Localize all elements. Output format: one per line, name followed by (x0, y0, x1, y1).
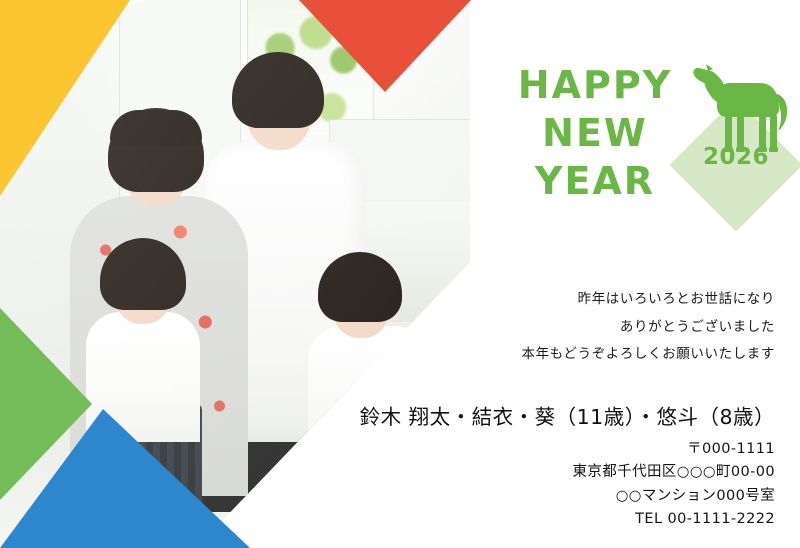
mother-fringe (110, 110, 202, 146)
message-line-2: ありがとうございました (521, 314, 775, 342)
zodiac-badge: 2026 (675, 62, 795, 192)
greeting-line-new: NEW (500, 114, 690, 152)
address-block: 〒000-1111 東京都千代田区○○○町00-00 ○○マンション000号室 … (573, 438, 776, 532)
greeting-line-happy: HAPPY (500, 66, 690, 104)
family-name-line: 鈴木 翔太・結衣・葵（11歳）・悠斗（8歳） (360, 400, 775, 430)
horse-icon (687, 62, 791, 160)
address-line-1: 東京都千代田区○○○町00-00 (573, 461, 776, 484)
greeting-message: 昨年はいろいろとお世話になり ありがとうございました 本年もどうぞよろしくお願い… (521, 286, 775, 369)
greeting-line-year: YEAR (500, 162, 690, 200)
message-line-1: 昨年はいろいろとお世話になり (521, 286, 775, 314)
postal-code: 〒000-1111 (573, 438, 776, 461)
telephone-number: TEL 00-1111-2222 (573, 508, 776, 531)
message-panel: HAPPY NEW YEAR 2026 (470, 0, 800, 548)
message-line-3: 本年もどうぞよろしくお願いいたします (521, 341, 775, 369)
happy-new-year-lockup: HAPPY NEW YEAR (500, 66, 690, 200)
address-line-2: ○○マンション000号室 (573, 485, 776, 508)
new-year-card: HAPPY NEW YEAR 2026 (0, 0, 800, 548)
